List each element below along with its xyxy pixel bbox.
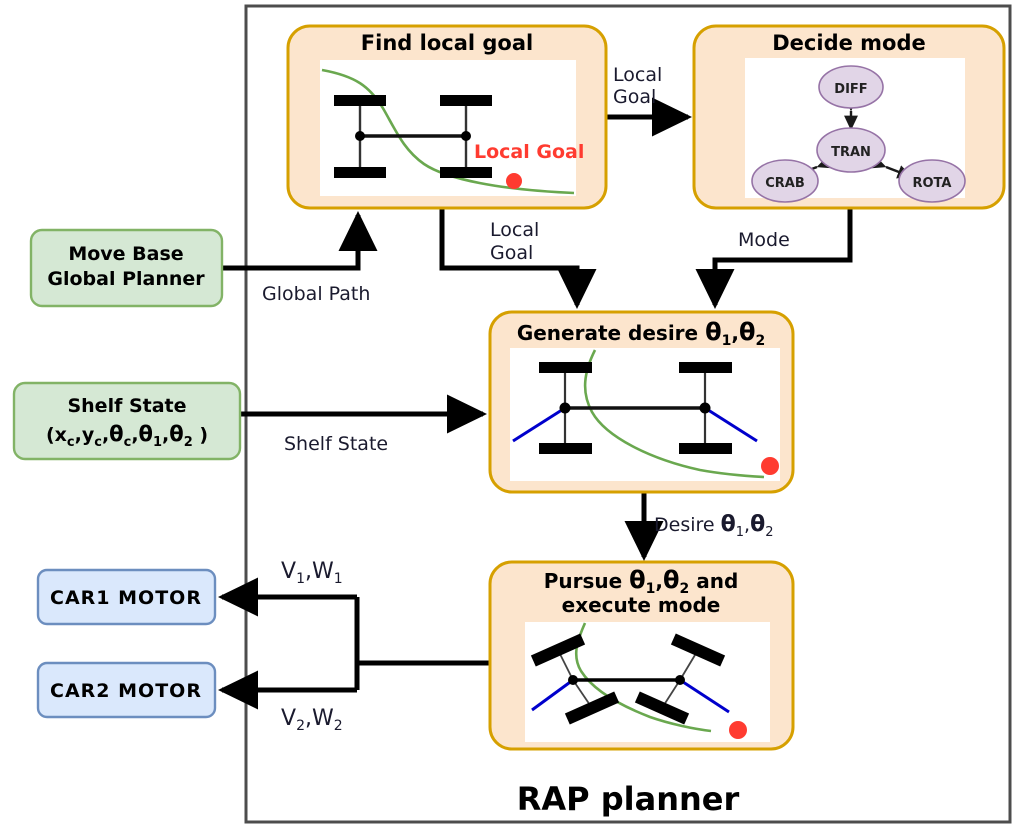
- generate-desire-sub1: 1: [722, 333, 732, 349]
- label-local-goal-generate-l1: Local: [490, 219, 539, 241]
- label-local-goal-generate-l2: Goal: [490, 242, 533, 264]
- shelf-theta1: θ: [139, 422, 153, 446]
- label-local-goal-decide-l1: Local: [613, 64, 662, 86]
- pursue-prefix: Pursue: [544, 569, 629, 593]
- label-v1-comma: ,: [305, 559, 312, 584]
- process-box-generate-desire[interactable]: Generate desire θ1,θ2: [490, 312, 793, 492]
- mode-node-crab: CRAB: [752, 160, 818, 202]
- joint-1-pursue: [568, 675, 578, 685]
- shelf-comma4: ,: [162, 424, 169, 446]
- label-w1-sub: 1: [334, 571, 343, 587]
- label-w1: W: [312, 559, 334, 584]
- shelf-comma2: ,: [102, 424, 109, 446]
- local-goal-dot-pursue: [729, 721, 747, 739]
- label-v2-comma: ,: [305, 706, 312, 731]
- local-goal-inner-label: Local Goal: [474, 141, 584, 163]
- shelf-theta2: θ: [169, 422, 183, 446]
- label-desire-prefix: Desire: [654, 514, 721, 536]
- find-local-goal-title: Find local goal: [361, 31, 533, 55]
- output-box-car1-motor[interactable]: CAR1 MOTOR: [38, 570, 215, 624]
- output-box-car2-motor[interactable]: CAR2 MOTOR: [38, 663, 215, 717]
- joint-2-find: [461, 131, 471, 141]
- shelf-y-sub: c: [94, 435, 102, 450]
- label-global-path: Global Path: [262, 283, 370, 305]
- label-v2: V: [281, 706, 296, 731]
- shelf-comma1: ,: [75, 424, 82, 446]
- label-v1: V: [281, 559, 296, 584]
- shelf-x-sub: c: [67, 435, 75, 450]
- move-base-line1: Move Base: [68, 243, 183, 265]
- input-box-move-base-global-planner[interactable]: Move Base Global Planner: [31, 230, 222, 306]
- pursue-suffix: and: [689, 569, 738, 593]
- label-desire-theta1: θ: [721, 512, 736, 537]
- shelf-theta1-sub: 1: [153, 435, 162, 450]
- decide-mode-title: Decide mode: [772, 31, 926, 55]
- label-desire: Desire θ1,θ2: [654, 512, 773, 540]
- shelf-state-line1: Shelf State: [67, 395, 186, 417]
- shelf-paren-close: ): [193, 424, 208, 446]
- process-box-decide-mode[interactable]: Decide mode DIFF TRAN CRAB ROTA: [694, 26, 1004, 208]
- shelf-y: y: [82, 424, 95, 446]
- diagram-canvas: Global Path Local Goal Local Goal Mode S…: [0, 0, 1029, 829]
- rap-planner-title: RAP planner: [517, 780, 740, 818]
- process-box-pursue-execute[interactable]: Pursue θ1,θ2 and execute mode: [490, 562, 793, 749]
- edge-mode: [715, 209, 850, 305]
- label-v1w1: V1,W1: [281, 559, 343, 587]
- label-mode: Mode: [738, 229, 790, 251]
- label-w2-sub: 2: [334, 718, 343, 734]
- label-desire-sub1: 1: [736, 525, 744, 540]
- generate-desire-theta2: θ: [739, 318, 756, 346]
- mode-label-tran: TRAN: [831, 145, 871, 160]
- joint-2-pursue: [675, 675, 685, 685]
- shelf-comma3: ,: [131, 424, 138, 446]
- local-goal-dot: [506, 173, 522, 189]
- shelf-paren-open: (: [46, 424, 55, 446]
- mode-node-diff: DIFF: [819, 66, 883, 108]
- label-v2w2: V2,W2: [281, 706, 343, 734]
- car1-motor-label: CAR1 MOTOR: [50, 587, 202, 609]
- label-desire-theta2: θ: [750, 512, 765, 537]
- shelf-theta-c-sub: c: [124, 435, 132, 450]
- process-box-find-local-goal[interactable]: Find local goal Local Goal: [288, 26, 606, 208]
- generate-desire-sub2: 2: [755, 333, 765, 349]
- pursue-title-line2: execute mode: [562, 593, 721, 617]
- pursue-theta1: θ: [629, 566, 646, 594]
- shelf-theta-c: θ: [109, 422, 123, 446]
- generate-desire-theta1: θ: [705, 318, 722, 346]
- joint-1-generate: [560, 403, 571, 414]
- move-base-line2: Global Planner: [47, 268, 205, 290]
- joint-1-find: [355, 131, 365, 141]
- generate-desire-comma: ,: [731, 321, 739, 345]
- pursue-comma: ,: [655, 569, 663, 593]
- mode-label-crab: CRAB: [765, 176, 805, 191]
- mode-node-rota: ROTA: [899, 160, 965, 202]
- car2-motor-label: CAR2 MOTOR: [50, 680, 202, 702]
- generate-desire-prefix: Generate desire: [517, 321, 705, 345]
- mode-node-tran: TRAN: [817, 128, 885, 172]
- label-desire-sub2: 2: [765, 525, 773, 540]
- mode-label-diff: DIFF: [834, 82, 867, 97]
- shelf-x: x: [55, 424, 67, 446]
- shelf-theta2-sub: 2: [184, 435, 193, 450]
- label-local-goal-decide-l2: Goal: [613, 86, 656, 108]
- edge-global-path: [222, 215, 358, 268]
- mode-label-rota: ROTA: [913, 176, 952, 191]
- label-shelf-state: Shelf State: [284, 433, 388, 455]
- local-goal-dot-generate: [761, 457, 779, 475]
- joint-2-generate: [700, 403, 711, 414]
- label-w2: W: [312, 706, 334, 731]
- label-v1-sub: 1: [296, 571, 305, 587]
- pursue-theta2: θ: [663, 566, 680, 594]
- input-box-shelf-state[interactable]: Shelf State (xc,yc,θc,θ1,θ2 ): [14, 383, 240, 459]
- label-v2-sub: 2: [296, 718, 305, 734]
